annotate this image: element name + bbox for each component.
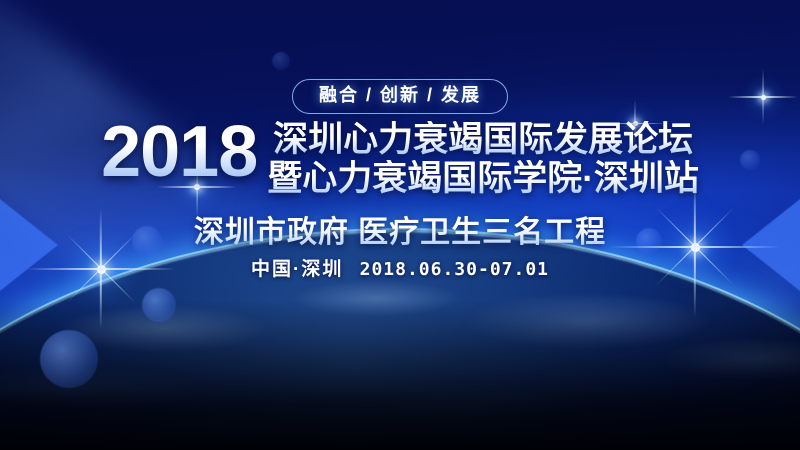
- poster-content: 融合 / 创新 / 发展 2018 深圳心力衰竭国际发展论坛 暨心力衰竭国际学院…: [0, 0, 800, 450]
- date-range-text: 2018.06.30-07.01: [360, 259, 549, 280]
- main-title-row: 2018 深圳心力衰竭国际发展论坛 暨心力衰竭国际学院·深圳站: [0, 118, 800, 198]
- tagline-badge: 融合 / 创新 / 发展: [292, 79, 508, 114]
- subtitle-text: 深圳市政府 医疗卫生三名工程: [0, 207, 800, 251]
- location-text: 中国·深圳: [251, 259, 343, 280]
- title-lines: 深圳心力衰竭国际发展论坛 暨心力衰竭国际学院·深圳站: [267, 118, 699, 198]
- title-line-2: 暨心力衰竭国际学院·深圳站: [267, 160, 699, 197]
- event-poster: 融合 / 创新 / 发展 2018 深圳心力衰竭国际发展论坛 暨心力衰竭国际学院…: [0, 0, 800, 450]
- tagline-text: 融合 / 创新 / 发展: [319, 85, 481, 105]
- year-number: 2018: [101, 118, 257, 186]
- title-line-1: 深圳心力衰竭国际发展论坛: [267, 121, 699, 158]
- date-location-line: 中国·深圳 2018.06.30-07.01: [0, 254, 800, 281]
